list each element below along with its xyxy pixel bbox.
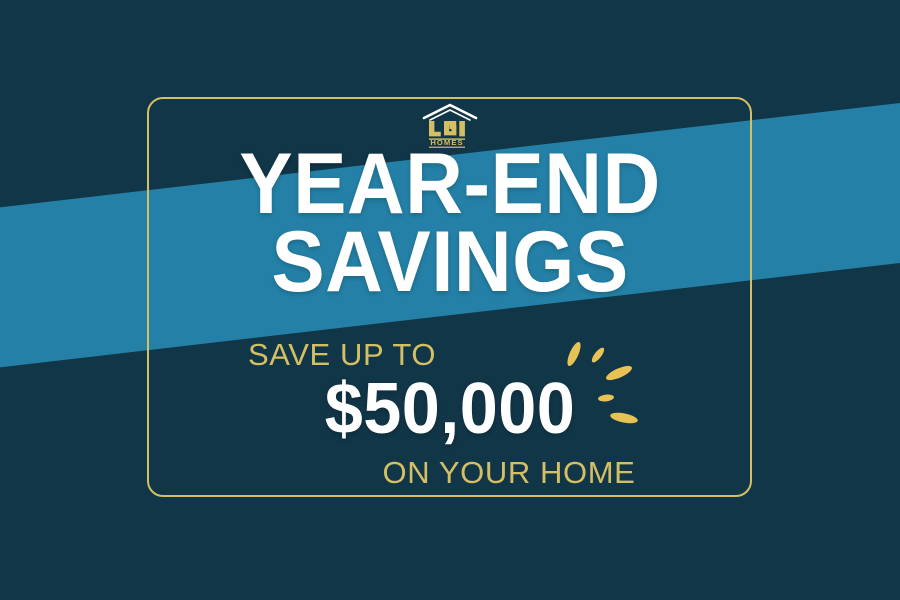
offer-amount: $50,000 bbox=[23, 373, 878, 445]
house-roof-icon bbox=[424, 105, 476, 118]
logo-letter-g bbox=[444, 121, 456, 135]
offer-subline: ON YOUR HOME bbox=[0, 455, 900, 491]
offer-eyebrow: SAVE UP TO bbox=[248, 337, 436, 373]
headline: YEAR-END SAVINGS bbox=[0, 148, 900, 298]
headline-line-2: SAVINGS bbox=[32, 226, 869, 298]
headline-line-1: YEAR-END bbox=[32, 148, 869, 220]
year-end-savings-banner: HOMES YEAR-END SAVINGS SAVE UP TO $50,00… bbox=[0, 0, 900, 600]
